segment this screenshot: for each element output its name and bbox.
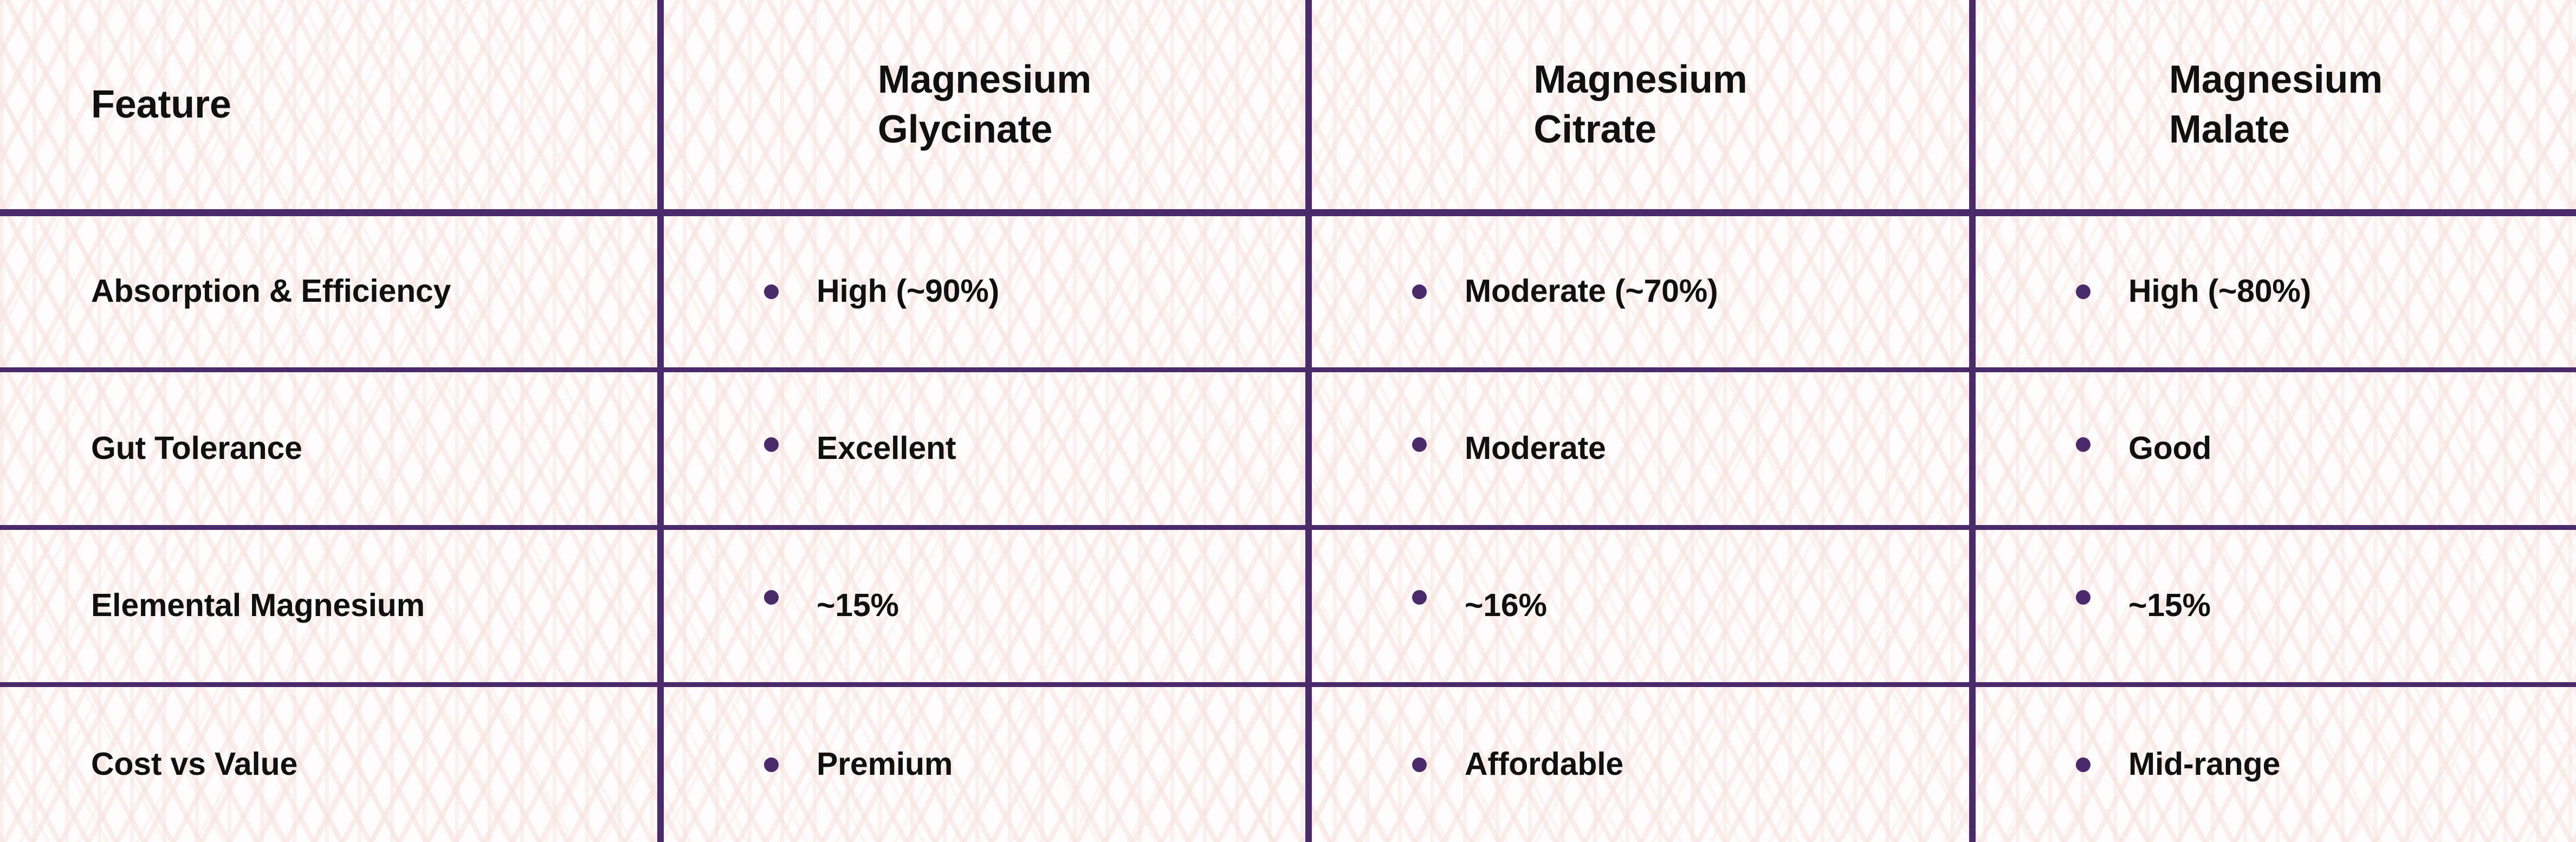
bullet-item: High (~80%) [1976, 271, 2576, 312]
bullet-dot-icon [1412, 757, 1427, 772]
bullet-item: ~15% [664, 586, 1305, 626]
value-label: High (~90%) [817, 271, 999, 312]
table-row: Elemental Magnesium ~15% ~16% [0, 527, 2576, 685]
bullet-dot-icon [764, 590, 779, 605]
value-cell-citrate: Moderate [1309, 370, 1972, 528]
column-header-magnesium-glycinate-label: Magnesium Glycinate [878, 55, 1091, 154]
value-label: Excellent [817, 429, 956, 469]
feature-label: Cost vs Value [91, 746, 297, 782]
value-cell-malate: ~15% [1972, 527, 2576, 685]
value-label: Mid-range [2128, 744, 2280, 785]
value-cell-glycinate: High (~90%) [661, 212, 1309, 370]
table-row: Cost vs Value Premium Affordable [0, 685, 2576, 842]
column-header-magnesium-citrate-label: Magnesium Citrate [1533, 55, 1747, 154]
column-header-feature-label: Feature [91, 80, 657, 129]
value-label: ~15% [2128, 586, 2211, 626]
bullet-dot-icon [764, 757, 779, 772]
column-header-feature: Feature [0, 0, 661, 212]
feature-label: Absorption & Efficiency [91, 273, 451, 309]
value-cell-glycinate: ~15% [661, 527, 1309, 685]
header-row: Feature Magnesium Glycinate Magnesium Ci… [0, 0, 2576, 212]
value-label: High (~80%) [2128, 271, 2311, 312]
bullet-dot-icon [764, 284, 779, 299]
value-label: Moderate (~70%) [1465, 271, 1718, 312]
bullet-dot-icon [764, 437, 779, 452]
bullet-item: Affordable [1312, 744, 1969, 785]
value-cell-malate: Good [1972, 370, 2576, 528]
feature-cell: Absorption & Efficiency [0, 212, 661, 370]
bullet-item: ~16% [1312, 586, 1969, 626]
bullet-item: Moderate (~70%) [1312, 271, 1969, 312]
bullet-item: Premium [664, 744, 1305, 785]
value-label: Affordable [1465, 744, 1623, 785]
value-label: Moderate [1465, 429, 1606, 469]
bullet-dot-icon [2076, 757, 2090, 772]
bullet-item: High (~90%) [664, 271, 1305, 312]
table-row: Absorption & Efficiency High (~90%) Mode… [0, 212, 2576, 370]
feature-cell: Cost vs Value [0, 685, 661, 842]
bullet-dot-icon [2076, 590, 2090, 605]
bullet-dot-icon [1412, 437, 1427, 452]
bullet-dot-icon [2076, 284, 2090, 299]
value-cell-malate: High (~80%) [1972, 212, 2576, 370]
column-header-magnesium-glycinate: Magnesium Glycinate [661, 0, 1309, 212]
bullet-dot-icon [2076, 437, 2090, 452]
column-header-magnesium-malate: Magnesium Malate [1972, 0, 2576, 212]
bullet-item: Good [1976, 429, 2576, 469]
value-label: Premium [817, 744, 953, 785]
table-header: Feature Magnesium Glycinate Magnesium Ci… [0, 0, 2576, 212]
comparison-table-wrapper: Feature Magnesium Glycinate Magnesium Ci… [0, 0, 2576, 842]
bullet-item: Excellent [664, 429, 1305, 469]
bullet-dot-icon [1412, 590, 1427, 605]
bullet-dot-icon [1412, 284, 1427, 299]
magnesium-comparison-table: Feature Magnesium Glycinate Magnesium Ci… [0, 0, 2576, 842]
table-body: Absorption & Efficiency High (~90%) Mode… [0, 212, 2576, 842]
value-cell-citrate: Affordable [1309, 685, 1972, 842]
value-label: ~15% [817, 586, 899, 626]
column-header-magnesium-malate-label: Magnesium Malate [2169, 55, 2383, 154]
table-row: Gut Tolerance Excellent Moderate [0, 370, 2576, 528]
value-cell-glycinate: Excellent [661, 370, 1309, 528]
feature-label: Gut Tolerance [91, 430, 302, 466]
column-header-magnesium-citrate: Magnesium Citrate [1309, 0, 1972, 212]
bullet-item: Moderate [1312, 429, 1969, 469]
bullet-item: Mid-range [1976, 744, 2576, 785]
value-cell-malate: Mid-range [1972, 685, 2576, 842]
feature-cell: Gut Tolerance [0, 370, 661, 528]
value-label: Good [2128, 429, 2211, 469]
bullet-item: ~15% [1976, 586, 2576, 626]
feature-label: Elemental Magnesium [91, 587, 425, 623]
value-cell-citrate: ~16% [1309, 527, 1972, 685]
value-cell-glycinate: Premium [661, 685, 1309, 842]
value-label: ~16% [1465, 586, 1547, 626]
value-cell-citrate: Moderate (~70%) [1309, 212, 1972, 370]
feature-cell: Elemental Magnesium [0, 527, 661, 685]
